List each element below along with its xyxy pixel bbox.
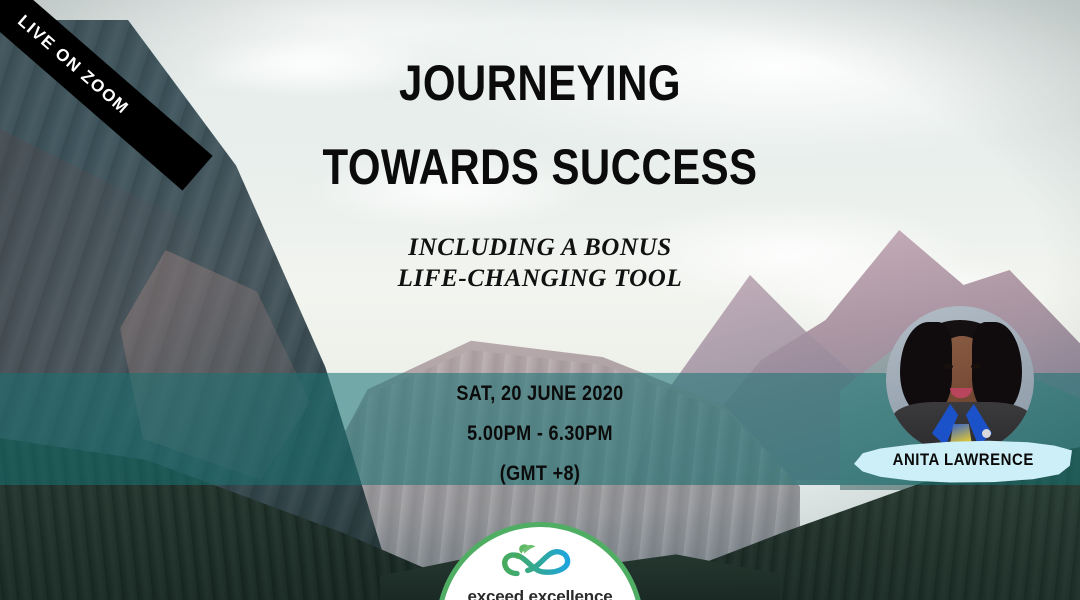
- page-subtitle: INCLUDING A BONUS LIFE-CHANGING TOOL: [0, 232, 1080, 294]
- title-line-1: JOURNEYING: [86, 58, 993, 108]
- speaker-name: ANITA LAWRENCE: [892, 450, 1033, 470]
- avatar: [886, 306, 1034, 454]
- hair-right: [972, 322, 1022, 414]
- infinity-leaf-logo-icon: [494, 541, 586, 583]
- logo-wordmark: exceed excellence: [468, 587, 613, 600]
- subtitle-line-2: LIFE-CHANGING TOOL: [0, 263, 1080, 294]
- subtitle-line-1: INCLUDING A BONUS: [0, 232, 1080, 263]
- page-title: JOURNEYING TOWARDS SUCCESS: [0, 58, 1080, 192]
- event-time: 5.00PM - 6.30PM: [76, 422, 1005, 446]
- eye-left: [944, 364, 953, 369]
- title-line-2: TOWARDS SUCCESS: [86, 142, 993, 192]
- lapel-pin: [982, 429, 991, 438]
- speaker-block: ANITA LAWRENCE: [886, 306, 1036, 454]
- eye-right: [971, 364, 980, 369]
- event-date: SAT, 20 JUNE 2020: [76, 382, 1005, 406]
- webinar-poster: LIVE ON ZOOM JOURNEYING TOWARDS SUCCESS …: [0, 0, 1080, 600]
